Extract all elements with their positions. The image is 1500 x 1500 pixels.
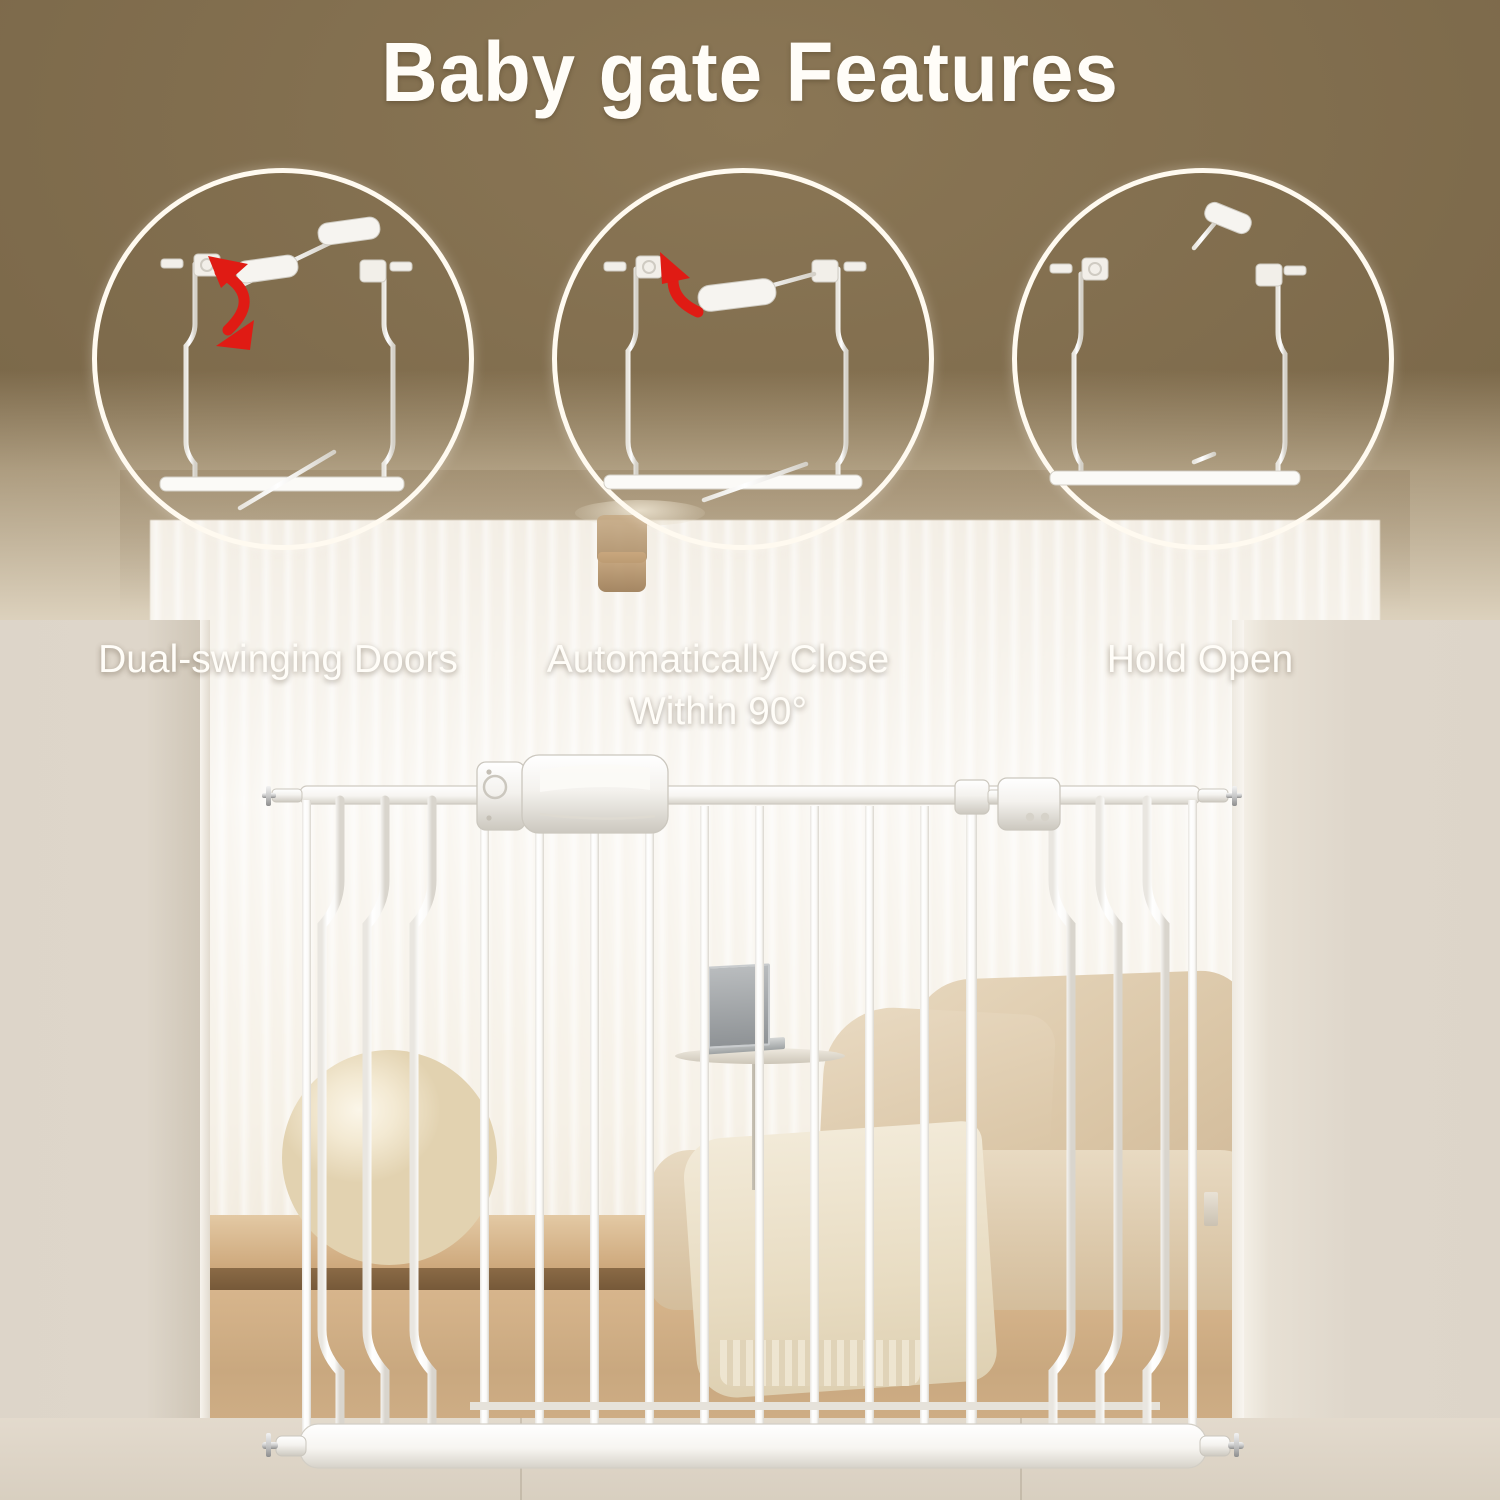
side-table-leg	[752, 1060, 759, 1190]
throw-fringe	[720, 1340, 920, 1386]
door-jamb-right	[1238, 620, 1500, 1500]
feature-caption-automatically-close: Automatically Close Within 90°	[518, 634, 918, 738]
door-jamb-right-edge	[1232, 620, 1244, 1500]
ceiling-fan-shade	[598, 552, 646, 592]
door-jamb-left	[0, 620, 208, 1500]
feature-circle-automatically-close	[552, 168, 934, 550]
feature-circle-dual-swinging-doors	[92, 168, 474, 550]
laptop-screen	[708, 963, 770, 1048]
feature-caption-dual-swinging-doors: Dual-swinging Doors	[78, 634, 478, 686]
light-switch	[1204, 1192, 1218, 1226]
feature-caption-hold-open: Hold Open	[1000, 634, 1400, 686]
tile-seam	[1020, 1418, 1022, 1500]
feature-circle-hold-open	[1012, 168, 1394, 550]
exercise-ball	[282, 1050, 497, 1265]
door-jamb-left-edge	[200, 620, 210, 1500]
tile-floor	[0, 1418, 1500, 1500]
product-feature-image: Baby gate Features	[0, 0, 1500, 1500]
tile-seam	[520, 1418, 522, 1500]
page-title: Baby gate Features	[53, 24, 1448, 120]
